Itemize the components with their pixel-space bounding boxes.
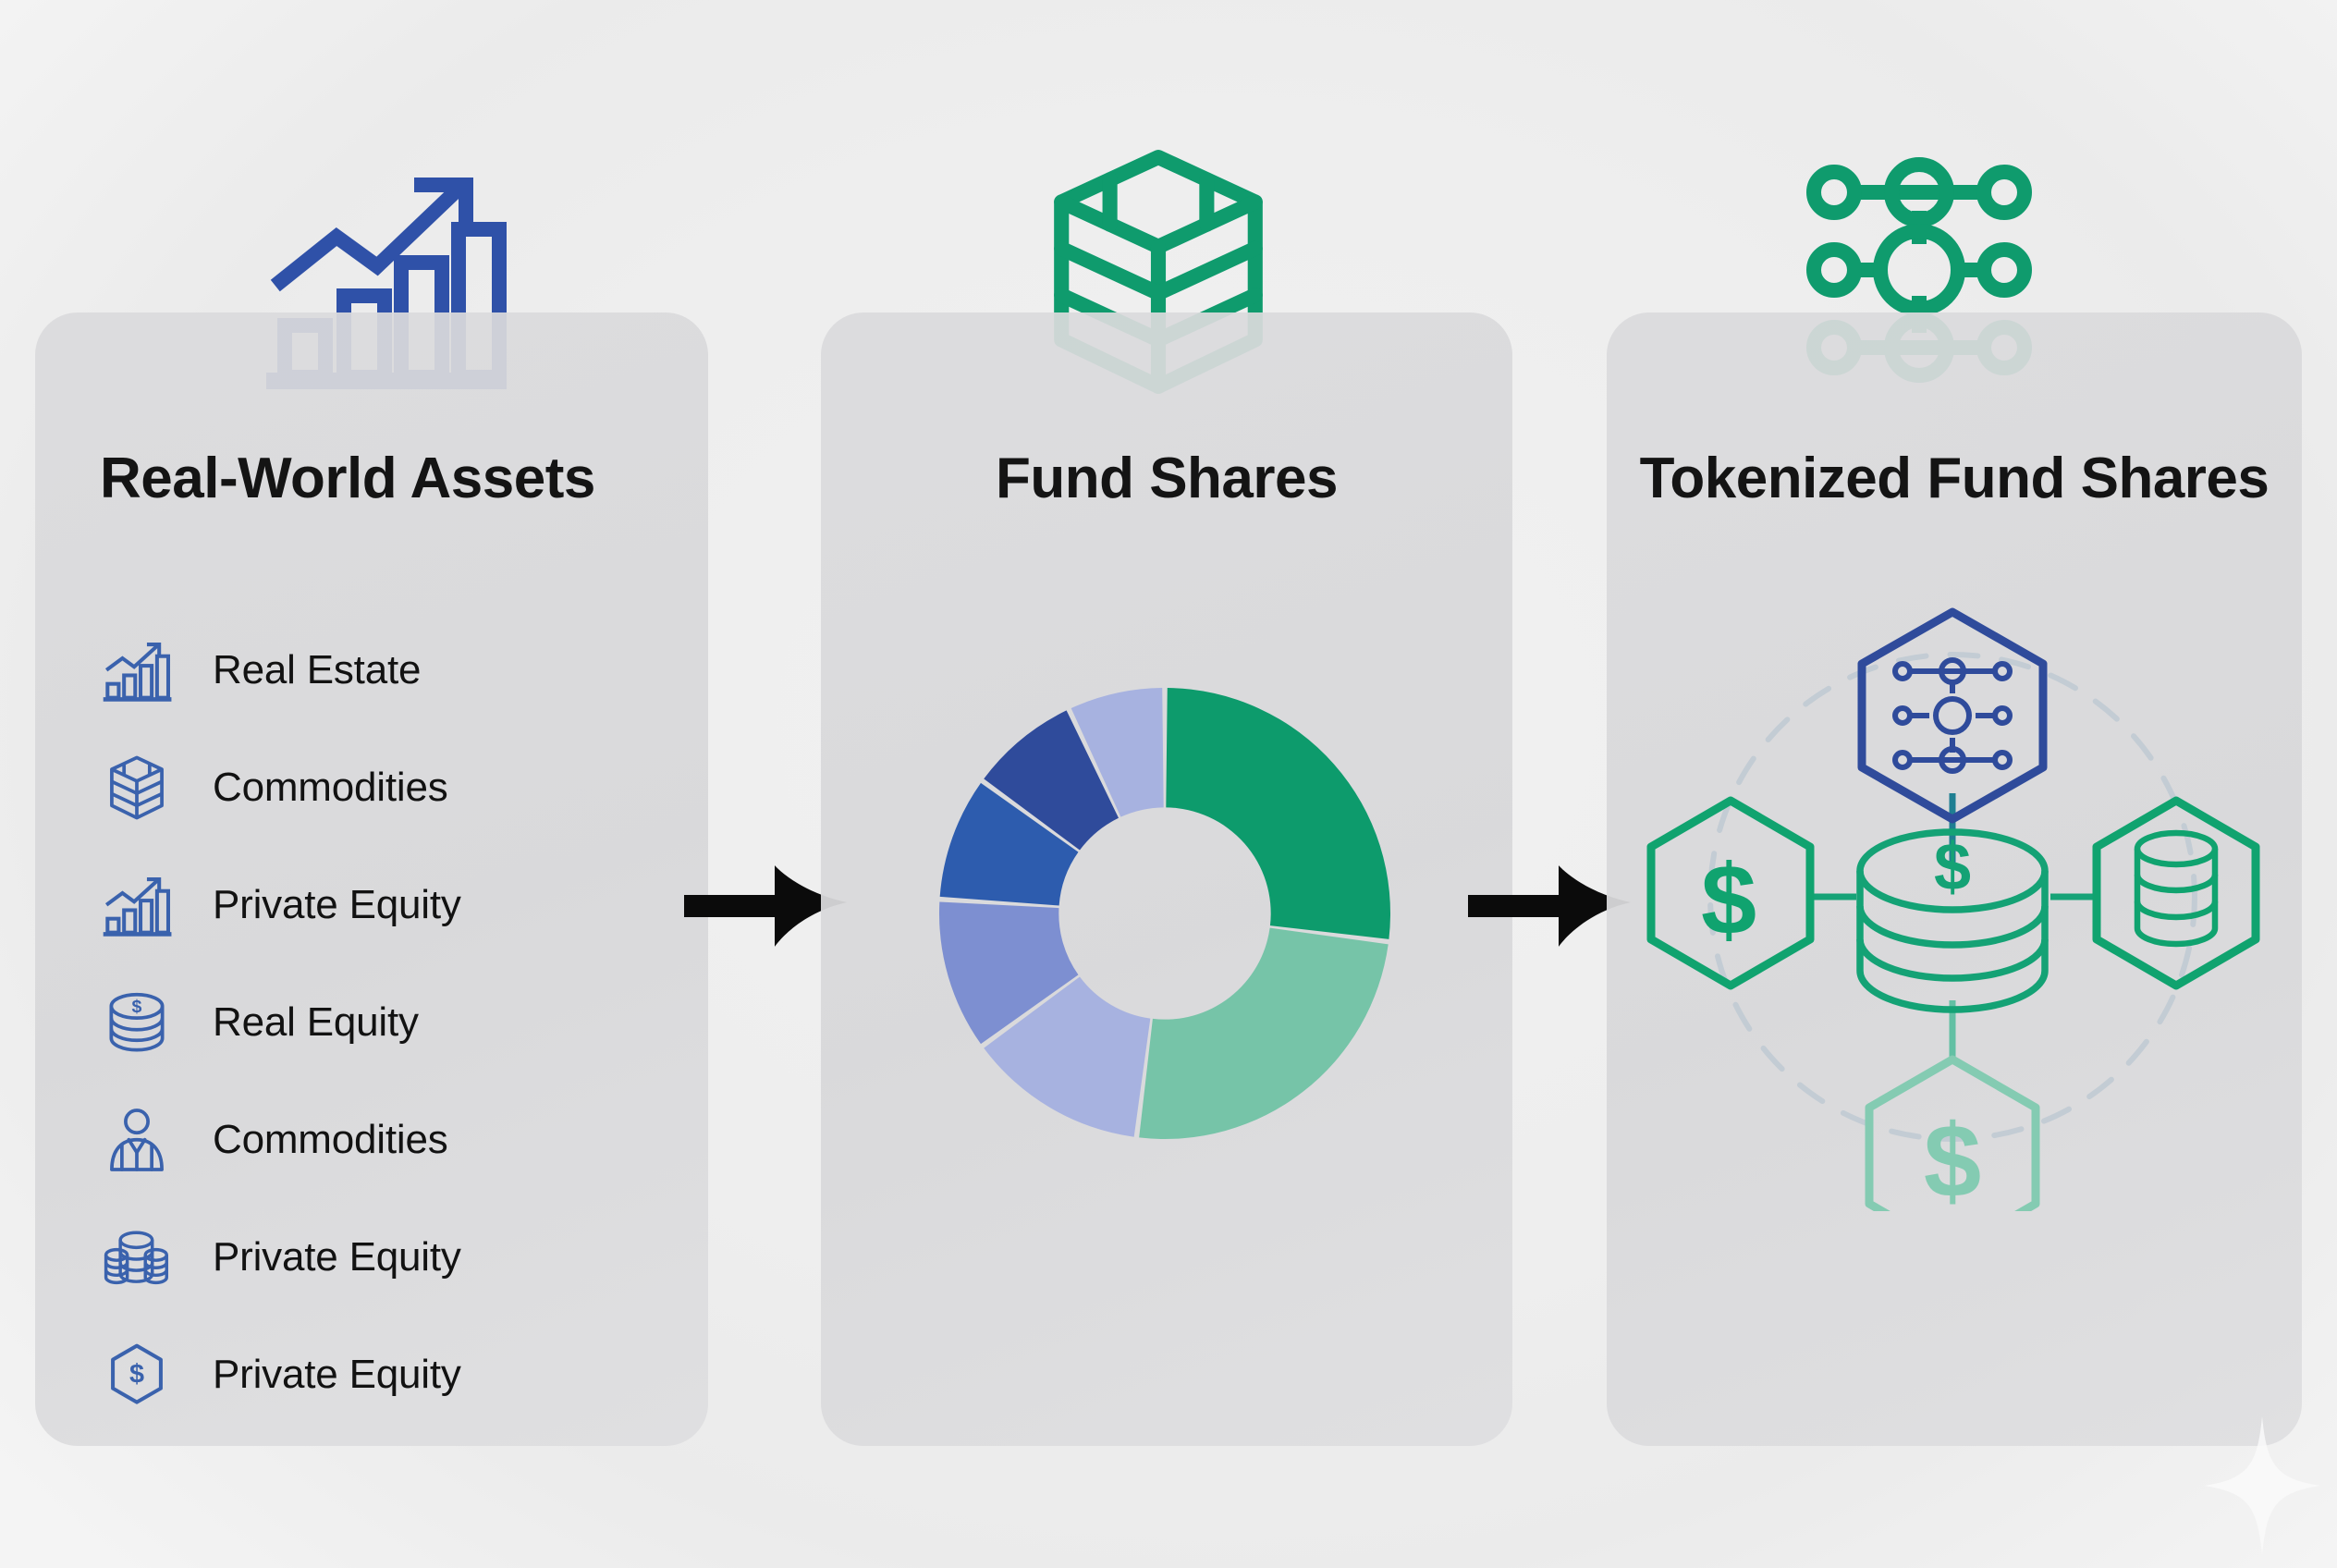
hexagon-network-nodes-icon (1862, 612, 2043, 819)
coin-stack-dollar-icon-center: $ (1860, 830, 2045, 1010)
hexagon-dollar-icon-left: $ (1651, 801, 1810, 986)
list-item-label: Commodities (213, 765, 448, 811)
asset-list: Real Estate Commodities (102, 634, 693, 1410)
coin-stacks-icon (102, 1224, 172, 1291)
list-item[interactable]: $ Real Equity (102, 986, 693, 1058)
list-item-label: Private Equity (213, 882, 461, 928)
donut-segment[interactable] (1166, 688, 1390, 939)
list-item[interactable]: $ Private Equity (102, 1339, 693, 1410)
svg-text:$: $ (132, 996, 142, 1016)
growth-bar-chart-icon (102, 872, 172, 938)
page-title-real-world-assets: Real-World Assets (100, 446, 708, 511)
list-item[interactable]: Private Equity (102, 869, 693, 940)
svg-text:$: $ (129, 1359, 144, 1389)
hexagon-dollar-icon-bottom: $ (1869, 1060, 2036, 1211)
list-item-label: Real Estate (213, 647, 421, 693)
svg-text:$: $ (1934, 830, 1971, 904)
panel-real-world-assets: Real-World Assets Real Estate (35, 312, 708, 1446)
hexagon-coin-stack-icon-right (2097, 801, 2256, 986)
growth-bar-chart-icon (102, 637, 172, 704)
businessperson-icon (102, 1107, 172, 1173)
list-item-label: Commodities (213, 1117, 448, 1163)
list-item[interactable]: Private Equity (102, 1221, 693, 1292)
coin-stack-dollar-icon: $ (102, 989, 172, 1056)
cube-stack-icon (102, 754, 172, 821)
list-item-label: Private Equity (213, 1352, 461, 1398)
list-item[interactable]: Commodities (102, 752, 693, 823)
page-title-fund-shares: Fund Shares (821, 446, 1512, 511)
fund-shares-donut-chart (934, 682, 1396, 1145)
list-item-label: Private Equity (213, 1234, 461, 1280)
infographic-canvas: Real-World Assets Real Estate (0, 0, 2337, 1568)
list-item-label: Real Equity (213, 999, 419, 1046)
donut-segment[interactable] (1139, 928, 1389, 1139)
token-network-diagram: $ $ $ (1629, 601, 2276, 1211)
sparkle-decoration-icon (2204, 1416, 2320, 1555)
list-item[interactable]: Real Estate (102, 634, 693, 705)
svg-text:$: $ (1924, 1103, 1981, 1211)
page-title-tokenized-fund-shares: Tokenized Fund Shares (1607, 446, 2302, 511)
hexagon-dollar-icon: $ (102, 1341, 172, 1408)
svg-text:$: $ (1701, 843, 1756, 955)
list-item[interactable]: Commodities (102, 1104, 693, 1175)
